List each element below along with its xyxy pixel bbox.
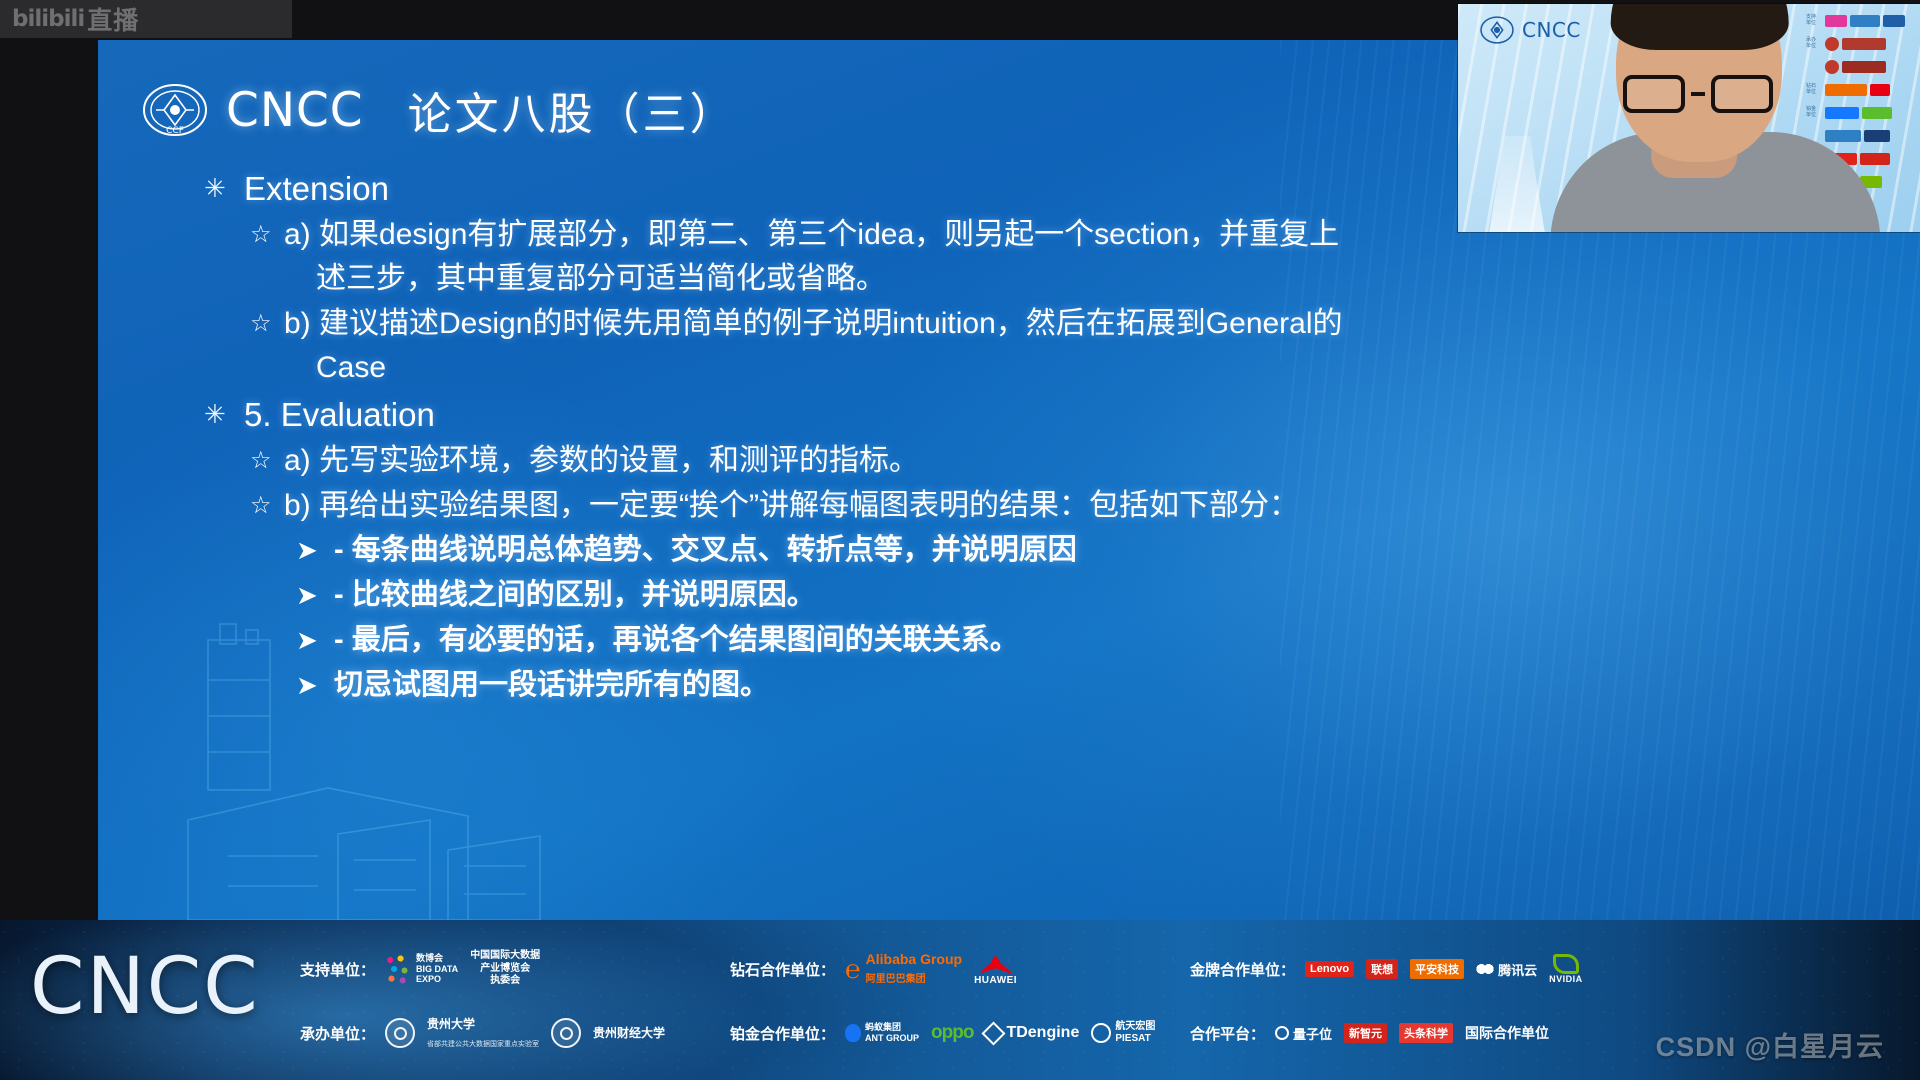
sponsor-chip: [1860, 153, 1890, 165]
bullet-text-main: b) 建议描述Design的时候先用简单的例子说明intuition，然后在拓展…: [284, 307, 1343, 340]
star-bullet-icon: ☆: [250, 302, 284, 346]
asterisk-bullet-icon: ✳: [204, 166, 244, 210]
sponsor-chip: [1850, 15, 1880, 27]
screen: bilibili 直播: [0, 0, 1920, 1080]
webcam-sponsor-row: 钻石单位: [1806, 81, 1914, 98]
sponsor-chip: [1842, 61, 1886, 73]
bullet-text-continuation: 述三步，其中重复部分可适当简化或省略。: [316, 257, 1880, 301]
sponsor-row-platinum: 铂金合作单位： 蚂蚁集团 ANT GROUP oppo TDengine: [730, 1012, 1155, 1054]
glasses-bridge: [1691, 92, 1705, 96]
bullet-item-avoid-single-paragraph: ➤ 切忌试图用一段话讲完所有的图。: [296, 663, 1880, 708]
sponsor-chip: [1870, 84, 1890, 96]
oppo-logo: oppo: [931, 1022, 973, 1044]
nvidia-logo: NVIDIA: [1549, 954, 1583, 984]
bigdata-dots-icon: [385, 954, 411, 984]
sponsor-chip: [1825, 15, 1847, 27]
bigdata-expo-logo: 数博会 BIG DATA EXPO: [385, 953, 458, 984]
sponsor-logos: 贵州大学 省部共建公共大数据国家重点实验室 贵州财经大学: [385, 1015, 665, 1051]
tdengine-mark-icon: [982, 1021, 1006, 1045]
sponsor-chip: [1862, 107, 1892, 119]
bullet-item-curve-trend: ➤ - 每条曲线说明总体趋势、交叉点、转折点等，并说明原因: [296, 528, 1880, 573]
sponsor-label: 合作平台：: [1190, 1023, 1265, 1044]
sponsor-chip: [1842, 38, 1886, 50]
bullet-text-main: a) 如果design有扩展部分，即第二、第三个idea，则另起一个sectio…: [284, 218, 1339, 251]
seal-inner-ring: [560, 1027, 573, 1040]
sponsor-row-support: 支持单位： 数博会 BIG DATA EXPO 中国国际大数据产业博览会执委会: [300, 948, 665, 990]
ant-name-en: ANT GROUP: [865, 1033, 919, 1043]
bigdata-line1: 数博会: [416, 953, 443, 963]
sponsor-logos: 数博会 BIG DATA EXPO 中国国际大数据产业博览会执委会: [385, 950, 540, 988]
bullet-text: - 比较曲线之间的区别，并说明原因。: [334, 573, 1880, 618]
bullet-text: - 每条曲线说明总体趋势、交叉点、转折点等，并说明原因: [334, 528, 1880, 573]
bilibili-live-label: 直播: [87, 1, 139, 37]
bullet-item-curve-compare: ➤ - 比较曲线之间的区别，并说明原因。: [296, 573, 1880, 618]
svg-text:CCF: CCF: [166, 126, 184, 136]
sponsor-row-platform: 合作平台： 量子位 新智元 头条科学 国际合作单位: [1190, 1012, 1583, 1054]
cncc-wordmark: CNCC: [226, 83, 364, 138]
sponsor-chip: [1864, 130, 1890, 142]
sponsor-label: 金牌合作单位：: [1190, 959, 1295, 980]
sponsor-chip: [1825, 130, 1861, 142]
lenovo-cn-logo: 联想: [1366, 959, 1398, 979]
sponsor-logos: 蚂蚁集团 ANT GROUP oppo TDengine 航天宏图 PIESAT: [845, 1021, 1155, 1045]
university-block: 贵州大学 省部共建公共大数据国家重点实验室: [427, 1015, 539, 1051]
bullet-text: 切忌试图用一段话讲完所有的图。: [334, 663, 1880, 708]
webcam-sponsor-row: 铂金单位: [1806, 104, 1914, 121]
bullet-item-evaluation-b: ☆ b) 再给出实验结果图，一定要“挨个”讲解每幅图表明的结果：包括如下部分：: [250, 484, 1880, 528]
nvidia-name: NVIDIA: [1549, 974, 1583, 984]
slide-bullet-list: ✳ Extension ☆ a) 如果design有扩展部分，即第二、第三个id…: [126, 166, 1880, 708]
bullet-text: b) 再给出实验结果图，一定要“挨个”讲解每幅图表明的结果：包括如下部分：: [284, 484, 1880, 528]
ant-text-block: 蚂蚁集团 ANT GROUP: [865, 1022, 919, 1044]
expo-committee-text: 中国国际大数据产业博览会执委会: [470, 950, 540, 988]
bullet-text: b) 建议描述Design的时候先用简单的例子说明intuition，然后在拓展…: [284, 302, 1880, 390]
qbitai-ring-icon: [1275, 1026, 1289, 1040]
webcam-sponsor-label: 支持单位: [1806, 15, 1822, 26]
qbitai-logo: 量子位: [1275, 1024, 1332, 1043]
glasses-lens-left: [1623, 75, 1685, 113]
piesat-logo: 航天宏图 PIESAT: [1091, 1021, 1155, 1045]
sponsor-group-gold: 金牌合作单位： Lenovo 联想 平安科技 腾讯云 NVIDIA 合作: [1190, 948, 1583, 1054]
tencent-mark-icon: [1476, 962, 1494, 976]
alibaba-text-block: Alibaba Group 阿里巴巴集团: [866, 951, 962, 987]
ant-name-cn: 蚂蚁集团: [865, 1022, 901, 1032]
piesat-name-cn: 航天宏图: [1115, 1021, 1155, 1032]
bilibili-brand-bar[interactable]: bilibili 直播: [0, 0, 292, 38]
xinzhiyuan-logo: 新智元: [1344, 1023, 1387, 1043]
huawei-flower-icon: [978, 953, 1014, 975]
piesat-name-en: PIESAT: [1115, 1033, 1150, 1044]
pingan-logo: 平安科技: [1410, 959, 1464, 979]
bullet-text-continuation: Case: [316, 346, 1880, 390]
star-bullet-icon: ☆: [250, 484, 284, 528]
sponsor-group-diamond: 钻石合作单位： ℮ Alibaba Group 阿里巴巴集团 HUAWEI: [730, 948, 1155, 1054]
webcam-cncc-logo: CNCC: [1480, 16, 1581, 44]
sponsor-group-support: 支持单位： 数博会 BIG DATA EXPO 中国国际大数据产业博览会执委会 …: [300, 948, 665, 1054]
csdn-watermark: CSDN @白星月云: [1656, 1025, 1884, 1064]
ccf-logo-icon: [1480, 16, 1514, 44]
glasses-lens-right: [1711, 75, 1773, 113]
webcam-cncc-label: CNCC: [1522, 18, 1581, 42]
bullet-text: a) 先写实验环境，参数的设置，和测评的指标。: [284, 439, 1880, 483]
tencent-cloud-logo: 腾讯云: [1476, 960, 1537, 979]
asterisk-bullet-icon: ✳: [204, 392, 244, 436]
lenovo-logo: Lenovo: [1305, 961, 1354, 977]
speaker-hair: [1611, 4, 1789, 50]
ant-group-logo: 蚂蚁集团 ANT GROUP: [845, 1022, 919, 1044]
sponsor-chip: [1825, 37, 1839, 51]
bullet-item-extension-b: ☆ b) 建议描述Design的时候先用简单的例子说明intuition，然后在…: [250, 302, 1880, 390]
webcam-overlay[interactable]: CNCC 支持单位 承办单位 钻石单位: [1458, 4, 1920, 232]
bullet-item-evaluation: ✳ 5. Evaluation: [204, 392, 1880, 438]
piesat-text-block: 航天宏图 PIESAT: [1115, 1021, 1155, 1045]
webcam-sponsor-label: 钻石单位: [1806, 84, 1822, 95]
sponsor-label: 承办单位：: [300, 1023, 375, 1044]
seal-inner-ring: [394, 1027, 407, 1040]
star-bullet-icon: ☆: [250, 213, 284, 257]
alibaba-logo: ℮ Alibaba Group 阿里巴巴集团: [845, 951, 962, 987]
arrow-bullet-icon: ➤: [296, 663, 334, 708]
tdengine-name: TDengine: [1006, 1024, 1079, 1042]
bigdata-line3: EXPO: [416, 974, 441, 984]
sponsor-label: 支持单位：: [300, 959, 375, 980]
sponsor-chip: [1825, 84, 1867, 96]
tencent-name: 腾讯云: [1498, 960, 1537, 979]
international-partner-label: 国际合作单位: [1465, 1023, 1549, 1043]
ant-mark-icon: [845, 1024, 861, 1042]
alibaba-mark-icon: ℮: [845, 956, 861, 982]
sponsor-row-diamond: 钻石合作单位： ℮ Alibaba Group 阿里巴巴集团 HUAWEI: [730, 948, 1155, 990]
arrow-bullet-icon: ➤: [296, 528, 334, 573]
sponsor-chip: [1825, 60, 1839, 74]
sponsor-chip: [1825, 107, 1859, 119]
bullet-item-figure-relation: ➤ - 最后，有必要的话，再说各个结果图间的关联关系。: [296, 618, 1880, 663]
sponsor-chip: [1883, 15, 1905, 27]
webcam-sponsor-label: 承办单位: [1806, 38, 1822, 49]
webcam-sponsor-label: 铂金单位: [1806, 107, 1822, 118]
arrow-bullet-icon: ➤: [296, 618, 334, 663]
slide-title: 论文八股（三）: [408, 78, 737, 142]
university-name: 贵州大学: [427, 1017, 475, 1031]
speaker-glasses-icon: [1623, 74, 1773, 114]
toutiao-logo: 头条科学: [1399, 1023, 1453, 1043]
alibaba-name-cn: 阿里巴巴集团: [866, 974, 926, 985]
tdengine-logo: TDengine: [985, 1024, 1079, 1042]
banner-cncc-wordmark: CNCC: [30, 942, 260, 1032]
sponsor-logos: ℮ Alibaba Group 阿里巴巴集团 HUAWEI: [845, 951, 1017, 987]
university-sublabel: 省部共建公共大数据国家重点实验室: [427, 1041, 539, 1048]
university-seal-icon: [385, 1018, 415, 1048]
arrow-bullet-icon: ➤: [296, 573, 334, 618]
webcam-sponsor-row: 承办单位: [1806, 35, 1914, 52]
sponsor-banner: CNCC 支持单位： 数博会 BIG DATA EXPO 中国国际大数据产业博览…: [0, 920, 1920, 1080]
huawei-logo: HUAWEI: [974, 953, 1017, 986]
sponsor-row-gold: 金牌合作单位： Lenovo 联想 平安科技 腾讯云 NVIDIA: [1190, 948, 1583, 990]
piesat-mark-icon: [1091, 1023, 1111, 1043]
webcam-sponsor-row: [1806, 58, 1914, 75]
webcam-sponsor-row: [1806, 127, 1914, 144]
sponsor-logos: 量子位 新智元 头条科学 国际合作单位: [1275, 1023, 1549, 1043]
sponsor-label: 铂金合作单位：: [730, 1023, 835, 1044]
webcam-sponsor-row: 支持单位: [1806, 12, 1914, 29]
university-name-2: 贵州财经大学: [593, 1026, 665, 1040]
alibaba-name: Alibaba Group: [866, 951, 962, 967]
bigdata-text: 数博会 BIG DATA EXPO: [416, 953, 458, 984]
star-bullet-icon: ☆: [250, 439, 284, 483]
bullet-text: 5. Evaluation: [244, 392, 1880, 438]
sponsor-label: 钻石合作单位：: [730, 959, 835, 980]
sponsor-row-organizer: 承办单位： 贵州大学 省部共建公共大数据国家重点实验室 贵州财经大学: [300, 1012, 665, 1054]
ccf-logo-icon: CCF: [142, 83, 208, 137]
sponsor-logos: Lenovo 联想 平安科技 腾讯云 NVIDIA: [1305, 954, 1583, 984]
university-seal-icon-2: [551, 1018, 581, 1048]
huawei-name: HUAWEI: [974, 975, 1017, 986]
bilibili-logo: bilibili: [12, 6, 84, 32]
bullet-item-evaluation-a: ☆ a) 先写实验环境，参数的设置，和测评的指标。: [250, 439, 1880, 483]
bigdata-line2: BIG DATA: [416, 964, 458, 974]
bullet-text: - 最后，有必要的话，再说各个结果图间的关联关系。: [334, 618, 1880, 663]
qbitai-name: 量子位: [1293, 1024, 1332, 1043]
nvidia-eye-icon: [1553, 954, 1579, 974]
